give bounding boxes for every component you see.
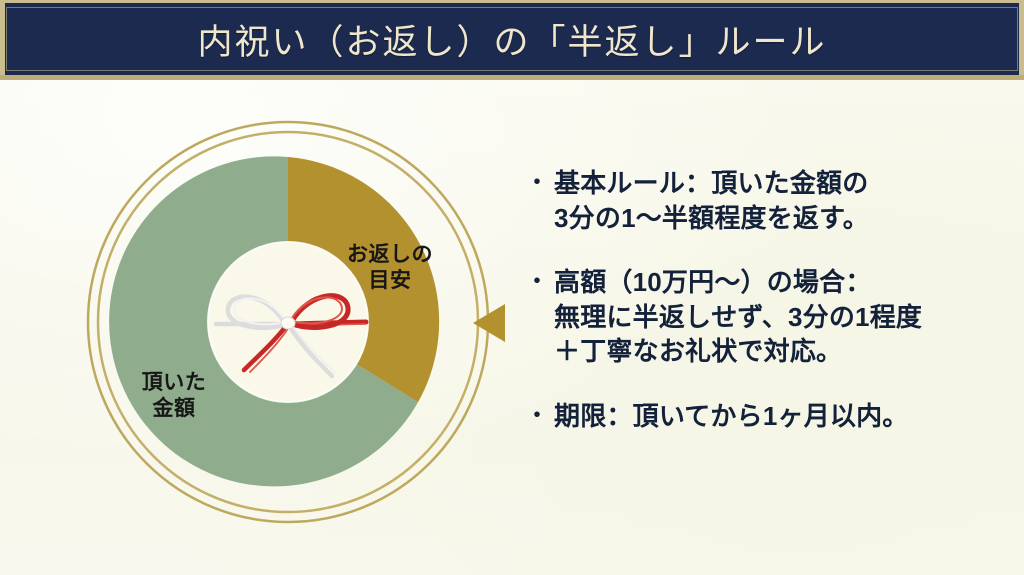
donut-label-okaeshi: お返しの 目安 bbox=[330, 242, 450, 293]
bullet-dot-icon: ・ bbox=[524, 166, 550, 199]
slide-header-band: 内祝い（お返し）の「半返し」ルール bbox=[0, 0, 1024, 80]
page-title: 内祝い（お返し）の「半返し」ルール bbox=[197, 14, 826, 65]
list-item: ・ 基本ルール：頂いた金額の 3分の1〜半額程度を返す。 bbox=[524, 166, 994, 235]
list-item-text: 基本ルール：頂いた金額の 3分の1〜半額程度を返す。 bbox=[554, 166, 994, 235]
list-item-line: 期限：頂いてから1ヶ月以内。 bbox=[554, 399, 994, 434]
list-item-line: ＋丁寧なお礼状で対応。 bbox=[554, 334, 994, 369]
donut-label-okaeshi-line2: 目安 bbox=[330, 268, 450, 294]
list-item-line: 無理に半返しせず、3分の1程度 bbox=[554, 300, 994, 335]
donut-label-itadaita: 頂いた 金額 bbox=[114, 370, 234, 421]
bullet-dot-icon: ・ bbox=[524, 399, 550, 432]
left-pointing-triangle-icon bbox=[473, 304, 505, 342]
donut-chart: お返しの 目安 頂いた 金額 bbox=[78, 112, 498, 532]
donut-label-itadaita-line1: 頂いた bbox=[114, 370, 234, 396]
list-item-text: 高額（10万円〜）の場合： 無理に半返しせず、3分の1程度 ＋丁寧なお礼状で対応… bbox=[554, 265, 994, 369]
list-item-line: 高額（10万円〜）の場合： bbox=[554, 265, 994, 300]
donut-label-okaeshi-line1: お返しの bbox=[330, 242, 450, 268]
list-item: ・ 高額（10万円〜）の場合： 無理に半返しせず、3分の1程度 ＋丁寧なお礼状で… bbox=[524, 265, 994, 369]
donut-label-itadaita-line2: 金額 bbox=[114, 396, 234, 422]
rules-bullet-list: ・ 基本ルール：頂いた金額の 3分の1〜半額程度を返す。 ・ 高額（10万円〜）… bbox=[524, 166, 994, 433]
list-item-line: 3分の1〜半額程度を返す。 bbox=[554, 201, 994, 236]
list-item-line: 基本ルール：頂いた金額の bbox=[554, 166, 994, 201]
bullet-dot-icon: ・ bbox=[524, 265, 550, 298]
list-item-text: 期限：頂いてから1ヶ月以内。 bbox=[554, 399, 994, 434]
donut-chart-svg bbox=[78, 112, 498, 532]
list-item: ・ 期限：頂いてから1ヶ月以内。 bbox=[524, 399, 994, 434]
slide-root: 内祝い（お返し）の「半返し」ルール bbox=[0, 0, 1024, 575]
